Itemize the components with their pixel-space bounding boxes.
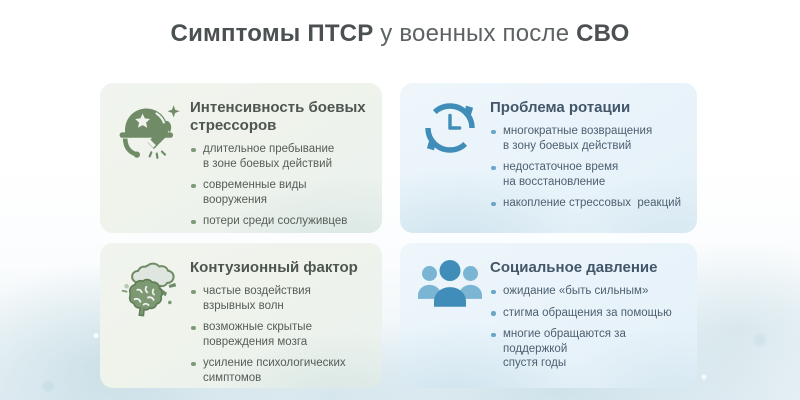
cards-grid: Интенсивность боевых стрессоров длительн… — [100, 83, 697, 388]
card-concussion-title: Контузионный фактор — [190, 259, 368, 277]
card-social-pressure-body: Социальное давление ожидание «быть сильн… — [486, 257, 683, 371]
card-social-pressure-title: Социальное давление — [490, 259, 683, 277]
card-concussion-bullets: частые воздействия взрывных волн возможн… — [190, 284, 368, 385]
list-item: усиление психологических симптомов — [190, 356, 368, 385]
page-title-bold-part-1: Симптомы ПТСР — [171, 20, 374, 47]
card-rotation[interactable]: Проблема ротации многократные возвращени… — [400, 83, 697, 233]
card-rotation-bullets: многократные возвращения в зону боевых д… — [490, 124, 683, 211]
military-helmet-icon — [114, 97, 186, 169]
page-title-bold-part-2: СВО — [576, 20, 629, 47]
list-item: многократные возвращения в зону боевых д… — [490, 124, 683, 153]
card-intensity-title: Интенсивность боевых стрессоров — [190, 99, 368, 135]
list-item: накопление стрессовых реакций — [490, 196, 683, 211]
card-concussion[interactable]: Контузионный фактор частые воздействия в… — [100, 243, 382, 388]
page-title: Симптомы ПТСР у военных после СВО — [0, 19, 800, 49]
list-item: стигма обращения за помощью — [490, 306, 683, 321]
list-item: многие обращаются за поддержкой спустя г… — [490, 327, 683, 371]
card-social-pressure-bullets: ожидание «быть сильным» стигма обращения… — [490, 284, 683, 371]
list-item: недостаточное время на восстановление — [490, 160, 683, 189]
card-concussion-body: Контузионный фактор частые воздействия в… — [186, 257, 368, 385]
infographic-page: Симптомы ПТСР у военных после СВО — [0, 0, 800, 400]
card-rotation-body: Проблема ротации многократные возвращени… — [486, 97, 683, 211]
card-rotation-title: Проблема ротации — [490, 99, 683, 117]
list-item: потери среди сослуживцев — [190, 214, 368, 229]
card-intensity-bullets: длительное пребывание в зоне боевых дейс… — [190, 142, 368, 229]
card-social-pressure[interactable]: Социальное давление ожидание «быть сильн… — [400, 243, 697, 388]
clock-rotation-icon — [414, 97, 486, 169]
card-intensity-body: Интенсивность боевых стрессоров длительн… — [186, 97, 368, 229]
page-title-regular-part: у военных после — [373, 20, 576, 47]
card-intensity[interactable]: Интенсивность боевых стрессоров длительн… — [100, 83, 382, 233]
people-group-icon — [414, 257, 486, 329]
list-item: современные виды вооружения — [190, 178, 368, 207]
list-item: возможные скрытые повреждения мозга — [190, 320, 368, 349]
list-item: ожидание «быть сильным» — [490, 284, 683, 299]
list-item: частые воздействия взрывных волн — [190, 284, 368, 313]
list-item: длительное пребывание в зоне боевых дейс… — [190, 142, 368, 171]
brain-blast-icon — [114, 257, 186, 329]
